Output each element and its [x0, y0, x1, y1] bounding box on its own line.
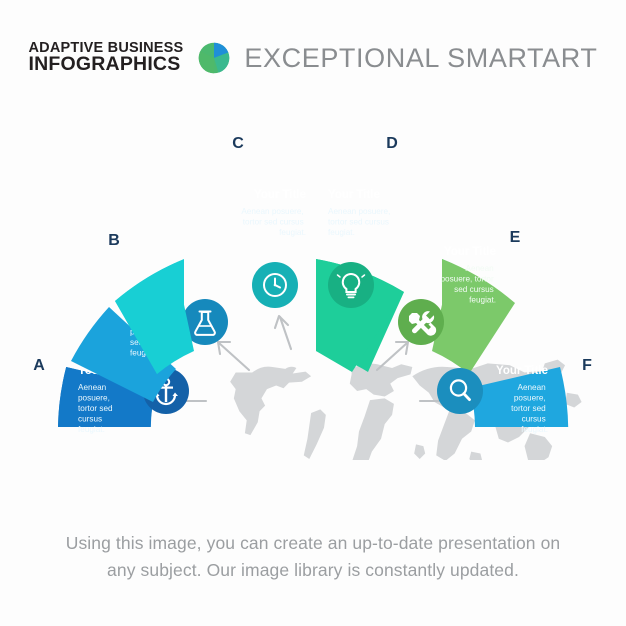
segment-d-body: Aenean posuere, tortor sed cursus feugia…: [328, 207, 393, 237]
segment-e-icon-badge[interactable]: [398, 299, 444, 345]
caption-line-2: any subject. Our image library is consta…: [0, 557, 626, 584]
page-caption: Using this image, you can create an up-t…: [0, 530, 626, 584]
brand-line-2: INFOGRAPHICS: [29, 55, 184, 75]
brand-lockup: ADAPTIVE BUSINESS INFOGRAPHICS: [29, 41, 184, 76]
arrow-icon-c: [275, 316, 291, 349]
segment-c-icon-badge[interactable]: [252, 262, 298, 308]
caption-line-1: Using this image, you can create an up-t…: [0, 530, 626, 557]
page-title: EXCEPTIONAL SMARTART: [244, 43, 597, 74]
segment-e[interactable]: Your Title Aenean posuere, tortor sed cu…: [398, 229, 521, 374]
infographic-page: ADAPTIVE BUSINESS INFOGRAPHICS EXCEPTION…: [0, 0, 626, 626]
page-header: ADAPTIVE BUSINESS INFOGRAPHICS EXCEPTION…: [0, 28, 626, 88]
segment-f-title: Your Title: [496, 365, 548, 377]
segment-c-title: Your Title: [254, 189, 306, 201]
segment-e-title: Your Title: [444, 246, 496, 258]
segment-d-title: Your Title: [328, 189, 380, 201]
segment-d-icon-badge[interactable]: [328, 262, 374, 308]
segment-f-icon-badge[interactable]: [437, 368, 483, 414]
segment-f-letter: F: [582, 357, 592, 374]
segment-c-body: Aenean posuere, tortor sed cursus feugia…: [241, 207, 306, 237]
segment-c-letter: C: [232, 135, 244, 152]
segment-a-letter: A: [33, 357, 45, 374]
arrow-icon-b: [218, 342, 249, 370]
segment-d-letter: D: [386, 135, 398, 152]
segment-b-letter: B: [108, 232, 120, 249]
tri-segment-circle-logo-icon: [197, 41, 231, 75]
segment-e-letter: E: [510, 229, 521, 246]
semicircle-fan-diagram: Your Title Aenean posuere, tortor sed cu…: [0, 120, 626, 460]
